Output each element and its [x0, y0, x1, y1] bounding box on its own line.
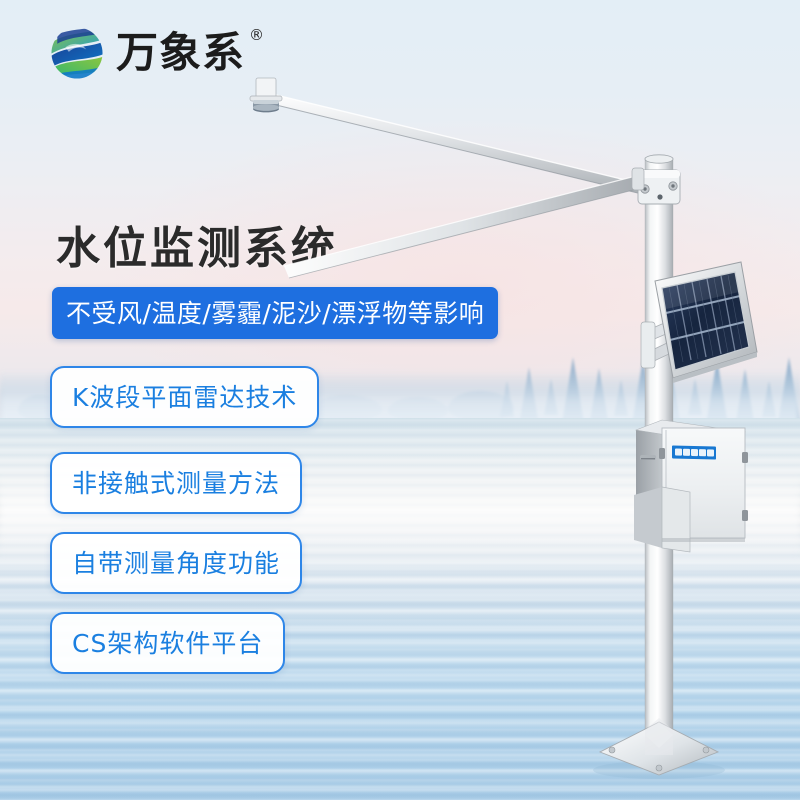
page-title: 水位监测系统: [56, 212, 338, 276]
cabinet-label-char: [699, 449, 706, 456]
feature-pill-3[interactable]: 自带测量角度功能: [50, 532, 302, 594]
cabinet-label-char: [691, 449, 698, 456]
feature-pill-4[interactable]: CS架构软件平台: [50, 612, 285, 674]
feature-pill-1[interactable]: K波段平面雷达技术: [50, 366, 319, 428]
registered-trademark-icon: ®: [249, 28, 265, 43]
cabinet-label-char: [683, 449, 690, 456]
cabinet-label: [672, 445, 716, 459]
poster-canvas: 万象系 ® 水位监测系统 不受风/温度/雾霾/泥沙/漂浮物等影响 K波段平面雷达…: [0, 0, 800, 800]
hero-ribbon: 不受风/温度/雾霾/泥沙/漂浮物等影响: [52, 287, 498, 339]
cabinet-label-char: [675, 448, 682, 455]
brand-name: 万象系 ®: [116, 32, 245, 74]
brand-name-text: 万象系: [116, 28, 245, 77]
cabinet-label-char: [707, 449, 714, 456]
globe-swirl-logo-icon: [48, 24, 106, 82]
brand-logo[interactable]: 万象系 ®: [48, 24, 245, 82]
water-ripples-foreground: [0, 560, 800, 800]
feature-pill-2[interactable]: 非接触式测量方法: [50, 452, 302, 514]
